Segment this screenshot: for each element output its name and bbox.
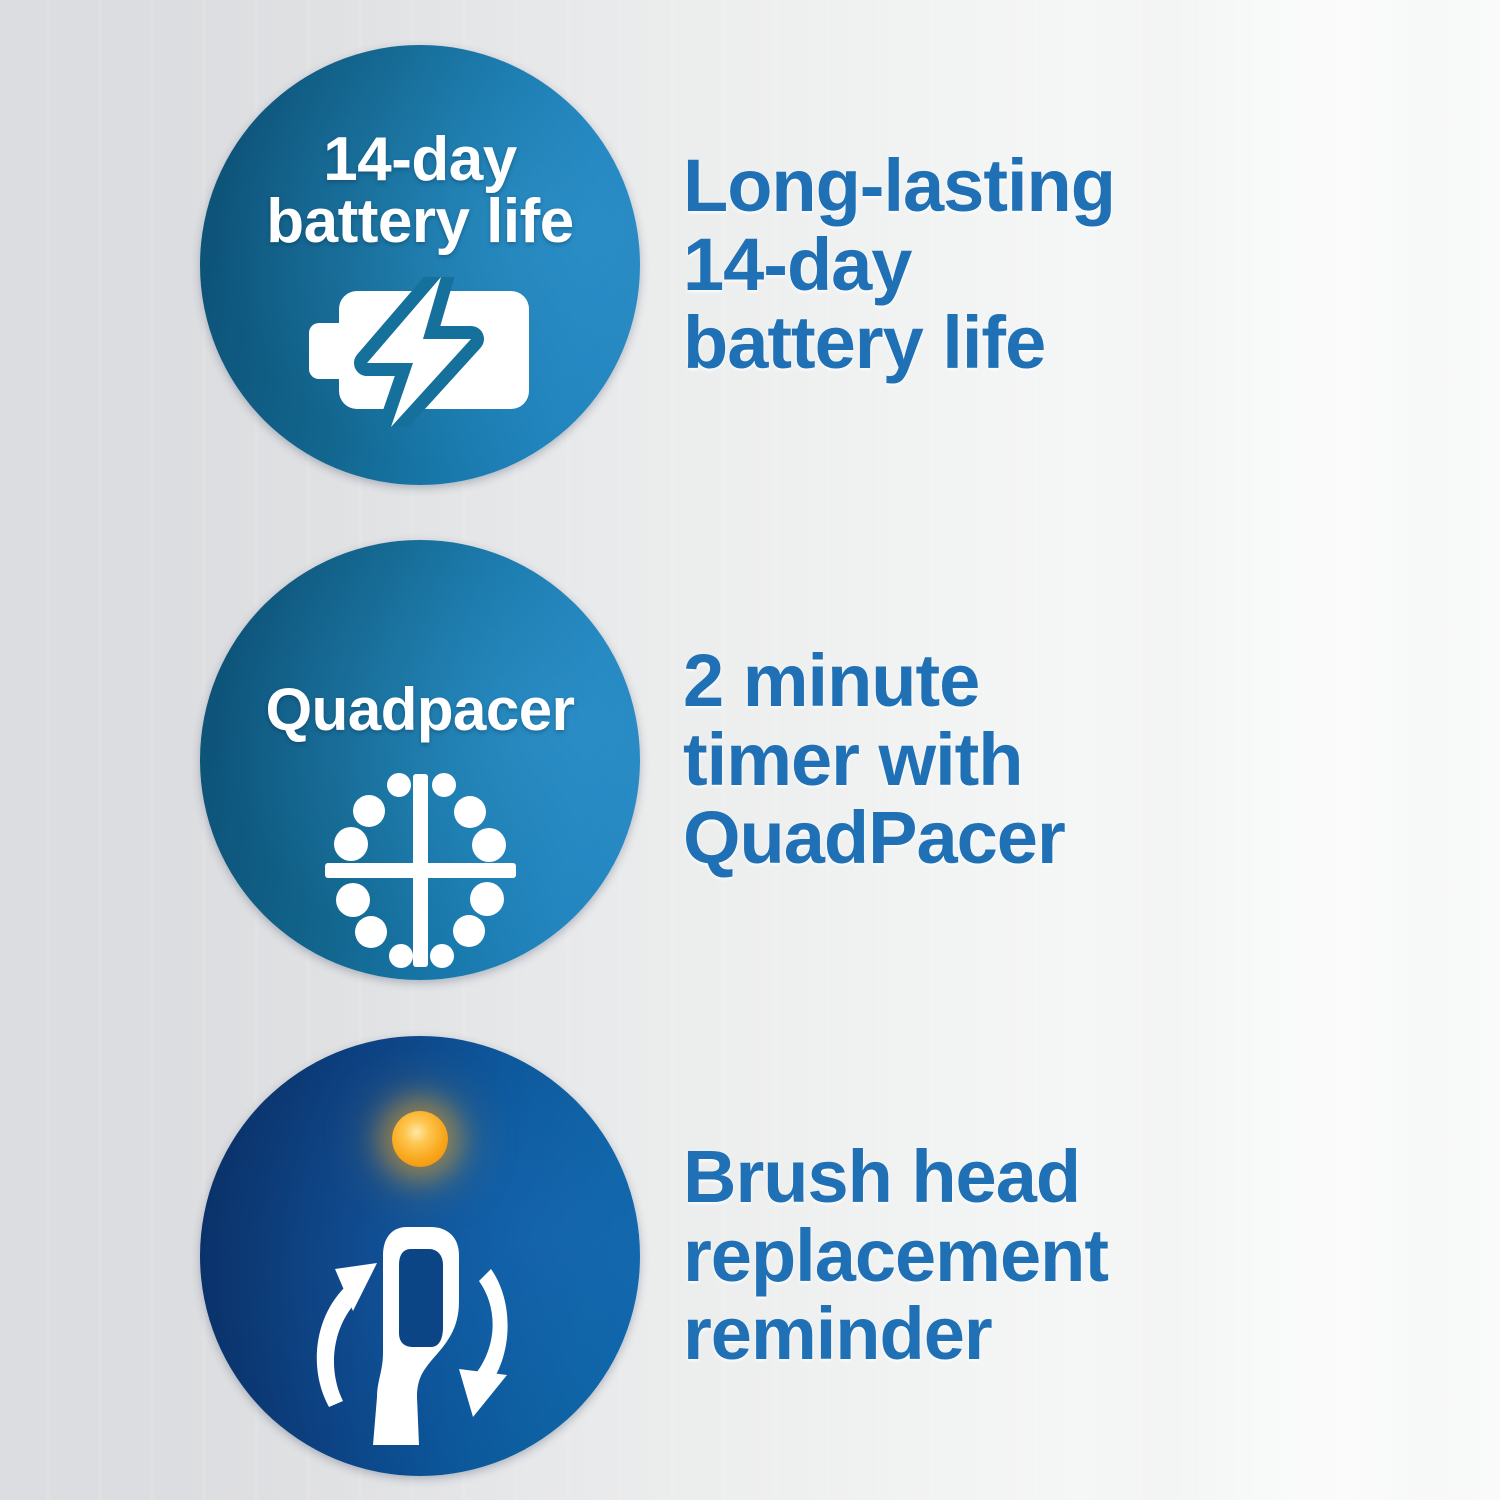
badge-brush-head-reminder: [200, 1036, 640, 1476]
badge-battery-life-label: 14-day battery life: [266, 129, 574, 253]
quadpacer-cross-dots-icon: [313, 768, 528, 973]
feature-row-quadpacer: Quadpacer: [0, 540, 1500, 980]
infographic-page: 14-day battery life Long-lasting 14-day …: [0, 0, 1500, 1500]
caption-brush-head-reminder: Brush head replacement reminder: [683, 1138, 1108, 1373]
caption-quadpacer: 2 minute timer with QuadPacer: [683, 642, 1065, 877]
indicator-light-icon: [392, 1111, 448, 1167]
badge-battery-life: 14-day battery life: [200, 45, 640, 485]
feature-row-battery-life: 14-day battery life Long-lasting 14-day …: [0, 45, 1500, 485]
badge-quadpacer-label: Quadpacer: [266, 680, 575, 740]
brush-head-replacement-icon: [295, 1221, 545, 1451]
badge-quadpacer: Quadpacer: [200, 540, 640, 980]
feature-row-brush-head-reminder: Brush head replacement reminder: [0, 1035, 1500, 1477]
caption-battery-life: Long-lasting 14-day battery life: [683, 147, 1115, 382]
battery-charging-icon: [295, 277, 545, 427]
